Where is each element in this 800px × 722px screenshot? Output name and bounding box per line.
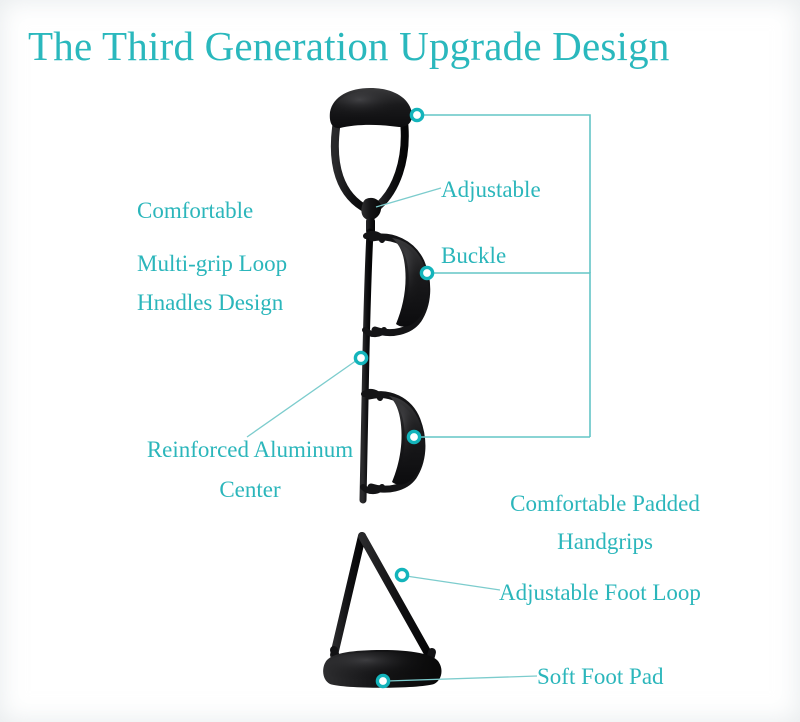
label-foot-pad: Soft Foot Pad xyxy=(537,659,664,695)
label-handgrips-line1: Comfortable Padded xyxy=(480,486,730,522)
label-handgrips-line2: Handgrips xyxy=(480,524,730,560)
label-multigrip-line2: Multi-grip Loop xyxy=(137,246,287,282)
label-aluminum-line1: Reinforced Aluminum xyxy=(125,432,375,468)
label-multigrip-line3: Hnadles Design xyxy=(137,285,283,321)
label-buckle-line1: Adjustable xyxy=(441,172,541,208)
label-aluminum-line2: Center xyxy=(125,472,375,508)
page-title: The Third Generation Upgrade Design xyxy=(28,22,728,70)
label-foot-loop: Adjustable Foot Loop xyxy=(499,575,701,611)
label-buckle-line2: Buckle xyxy=(441,238,506,274)
label-multigrip-line1: Comfortable xyxy=(137,193,253,229)
infographic-canvas: The Third Generation Upgrade Design Comf… xyxy=(0,0,800,722)
